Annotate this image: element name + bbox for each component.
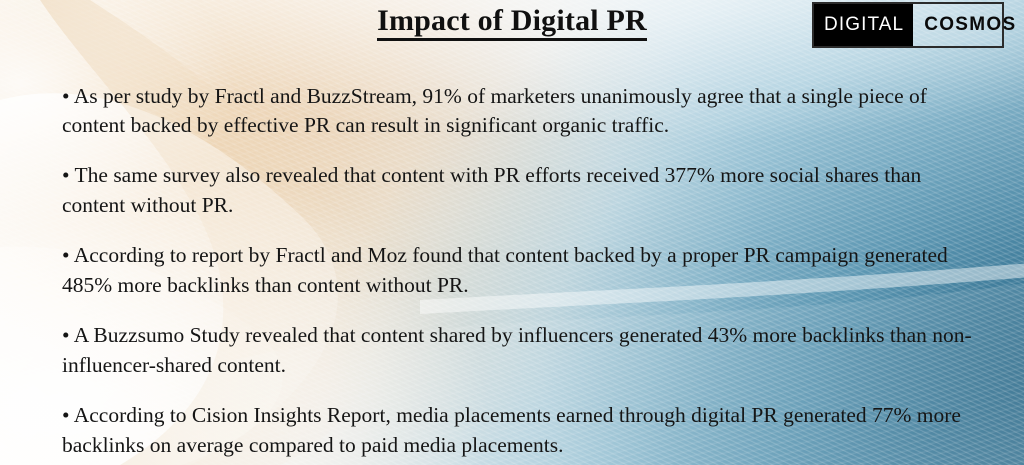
bullet-item-3: • According to report by Fractl and Moz … bbox=[62, 241, 974, 299]
bullet-item-4: • A Buzzsumo Study revealed that content… bbox=[62, 321, 974, 379]
slide-canvas: Impact of Digital PR DIGITAL COSMOS • As… bbox=[0, 0, 1024, 465]
logo-digital-word: DIGITAL bbox=[814, 4, 913, 46]
bullet-item-1: • As per study by Fractl and BuzzStream,… bbox=[62, 82, 974, 140]
digital-cosmos-logo: DIGITAL COSMOS bbox=[812, 2, 1004, 48]
bullet-item-5: • According to Cision Insights Report, m… bbox=[62, 401, 974, 459]
bullet-item-2: • The same survey also revealed that con… bbox=[62, 161, 974, 219]
page-title-text: Impact of Digital PR bbox=[377, 4, 647, 41]
bullet-list: • As per study by Fractl and BuzzStream,… bbox=[62, 60, 974, 465]
logo-cosmos-word: COSMOS bbox=[913, 14, 1016, 36]
